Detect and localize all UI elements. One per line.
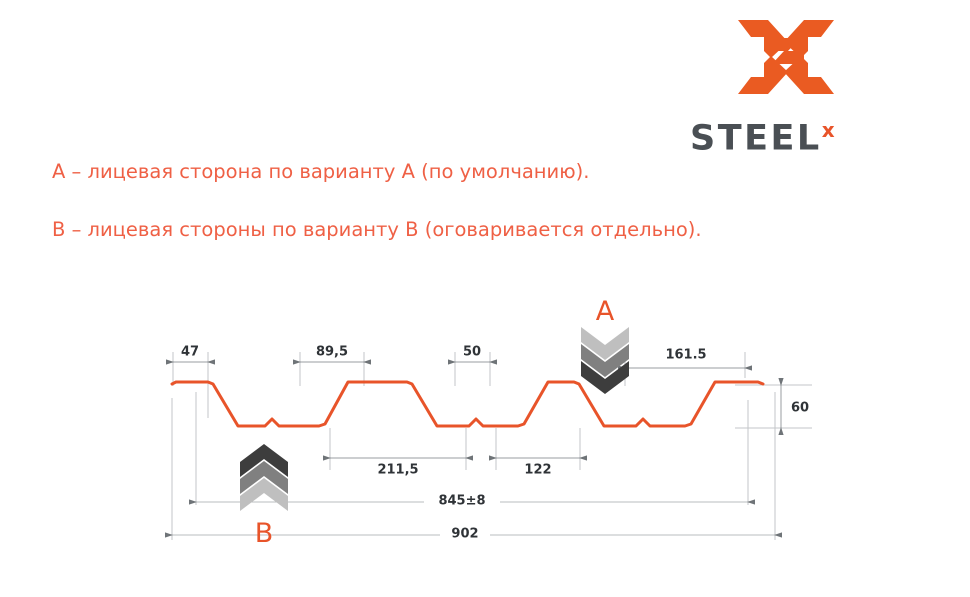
extension-lines (172, 352, 812, 540)
dim-47-label: 47 (181, 345, 199, 360)
dim-211-5-label: 211,5 (377, 463, 418, 478)
top-dimensions: 47 89,5 50 161.5 (173, 345, 745, 369)
profile-datasheet-page: STEELx A – лицевая сторона по варианту А… (0, 0, 970, 597)
sheet-profile-outline (172, 382, 763, 426)
dim-122-label: 122 (524, 463, 551, 478)
dim-902-label: 902 (451, 527, 478, 542)
dim-161-5-label: 161.5 (665, 348, 706, 363)
marker-a: A (581, 296, 629, 394)
profile-technical-drawing: 47 89,5 50 161.5 60 211,5 12 (0, 0, 970, 597)
dim-89-5-label: 89,5 (316, 345, 348, 360)
dim-60-label: 60 (791, 401, 809, 416)
marker-b: B (240, 444, 288, 549)
height-dimension: 60 (781, 385, 809, 428)
dim-50-label: 50 (463, 345, 481, 360)
marker-a-label: A (596, 296, 615, 327)
middle-dimensions: 211,5 122 (330, 458, 580, 478)
dim-845-label: 845±8 (438, 494, 485, 509)
marker-b-label: B (255, 518, 274, 549)
